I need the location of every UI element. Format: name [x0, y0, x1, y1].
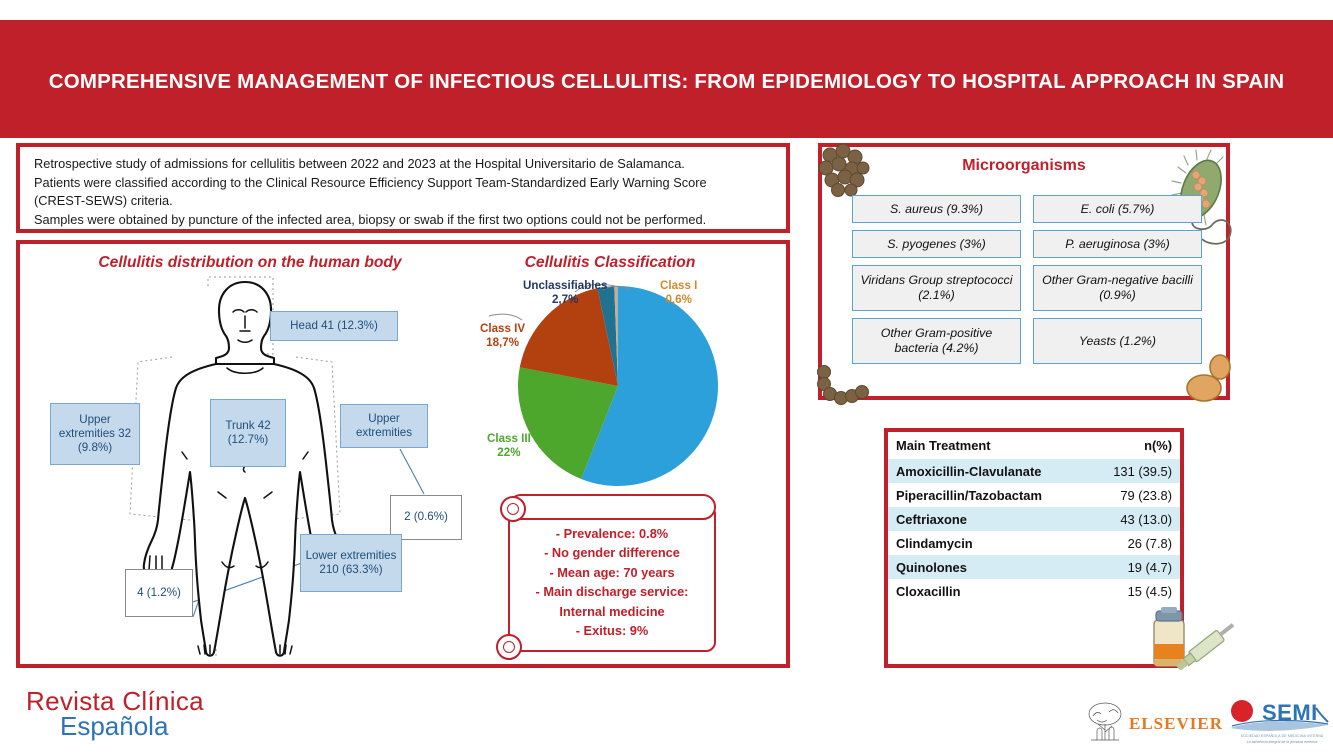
micro-item: Yeasts (1.2%) [1033, 318, 1202, 364]
page-title: COMPREHENSIVE MANAGEMENT OF INFECTIOUS C… [0, 70, 1333, 94]
micro-item: Other Gram-negative bacilli (0.9%) [1033, 265, 1202, 311]
label-head: Head 41 (12.3%) [270, 311, 398, 341]
pie-label-class-ii: Class II 56% [675, 396, 716, 424]
intro-line-3: (CREST-SEWS) criteria. [34, 192, 774, 210]
key-results-scroll: - Prevalence: 0.8% - No gender differenc… [496, 492, 728, 660]
poster-header: COMPREHENSIVE MANAGEMENT OF INFECTIOUS C… [0, 20, 1333, 138]
list-item: - Mean age: 70 years [512, 563, 712, 582]
table-row: Ceftriaxone43 (13.0) [888, 507, 1180, 531]
col-header-treatment: Main Treatment [888, 432, 1088, 459]
list-item: Internal medicine [512, 602, 712, 621]
label-trunk: Trunk 42 (12.7%) [210, 399, 286, 467]
pie-label-class-i: Class I 0,6% [660, 279, 697, 307]
micro-item: P. aeruginosa (3%) [1033, 230, 1202, 258]
elsevier-wordmark: ELSEVIER [1129, 714, 1223, 734]
pie-label-unclassifiables: Unclassifiables 2,7% [523, 279, 607, 307]
pie-label-class-iv: Class IV 18,7% [480, 322, 525, 350]
body-distribution-title: Cellulitis distribution on the human bod… [40, 254, 460, 272]
intro-line-1: Retrospective study of admissions for ce… [34, 155, 774, 173]
intro-line-4: Samples were obtained by puncture of the… [34, 211, 774, 229]
list-item: - No gender difference [512, 543, 712, 562]
label-lower-extremities: Lower extremities 210 (63.3%) [300, 534, 402, 592]
intro-panel: Retrospective study of admissions for ce… [16, 143, 790, 233]
intro-line-2: Patients were classified according to th… [34, 174, 774, 192]
microorganisms-panel: Microorganisms [818, 143, 1230, 400]
semi-subtitle-1: SOCIEDAD ESPAÑOLA DE MEDICINA INTERNA [1232, 734, 1332, 738]
poster-root: COMPREHENSIVE MANAGEMENT OF INFECTIOUS C… [0, 0, 1333, 754]
micro-item: Viridans Group streptococci (2.1%) [852, 265, 1021, 311]
semi-wordmark: SEMI [1262, 700, 1318, 726]
semi-subtitle-2: La asistencia integral de la persona enf… [1232, 740, 1332, 744]
left-results-panel: Cellulitis distribution on the human bod… [16, 240, 790, 668]
microorganisms-title: Microorganisms [822, 157, 1226, 175]
table-row: Cloxacillin15 (4.5) [888, 579, 1180, 603]
table-row: Piperacillin/Tazobactam79 (23.8) [888, 483, 1180, 507]
micro-item: S. pyogenes (3%) [852, 230, 1021, 258]
table-row: Amoxicillin-Clavulanate131 (39.5) [888, 459, 1180, 483]
vial-syringe-icon [1140, 604, 1235, 674]
main-treatment-panel: Main Treatment n(%) Amoxicillin-Clavulan… [884, 428, 1184, 668]
table-row: Quinolones19 (4.7) [888, 555, 1180, 579]
micro-item: Other Gram-positive bacteria (4.2%) [852, 318, 1021, 364]
list-item: - Exitus: 9% [512, 621, 712, 640]
label-left-count: 4 (1.2%) [125, 569, 193, 617]
micro-item: S. aureus (9.3%) [852, 195, 1021, 223]
col-header-n-percent: n(%) [1088, 432, 1180, 459]
semi-logo: SEMI SOCIEDAD ESPAÑOLA DE MEDICINA INTER… [1228, 698, 1333, 750]
elsevier-logo: ELSEVIER [1085, 700, 1220, 748]
label-upper-extremities-right: Upper extremities [340, 404, 428, 448]
list-item: - Main discharge service: [512, 582, 712, 601]
pie-chart-title: Cellulitis Classification [460, 254, 760, 272]
table-row: Clindamycin26 (7.8) [888, 531, 1180, 555]
revista-clinica-espanola-logo: Revista Clínica Española [26, 686, 286, 742]
elsevier-tree-icon [1085, 700, 1127, 746]
key-results-list: - Prevalence: 0.8% - No gender differenc… [512, 524, 712, 641]
pie-label-class-iii: Class III 22% [487, 432, 531, 460]
scroll-curl-top-icon [500, 496, 526, 522]
list-item: - Prevalence: 0.8% [512, 524, 712, 543]
microorganisms-grid: S. aureus (9.3%) E. coli (5.7%) S. pyoge… [852, 195, 1202, 364]
cellulitis-classification-chart: Unclassifiables 2,7% Class I 0,6% Class … [475, 284, 765, 489]
micro-item: E. coli (5.7%) [1033, 195, 1202, 223]
label-upper-extremities-left: Upper extremities 32 (9.8%) [50, 403, 140, 465]
treatment-table: Main Treatment n(%) Amoxicillin-Clavulan… [888, 432, 1180, 603]
table-header-row: Main Treatment n(%) [888, 432, 1180, 459]
